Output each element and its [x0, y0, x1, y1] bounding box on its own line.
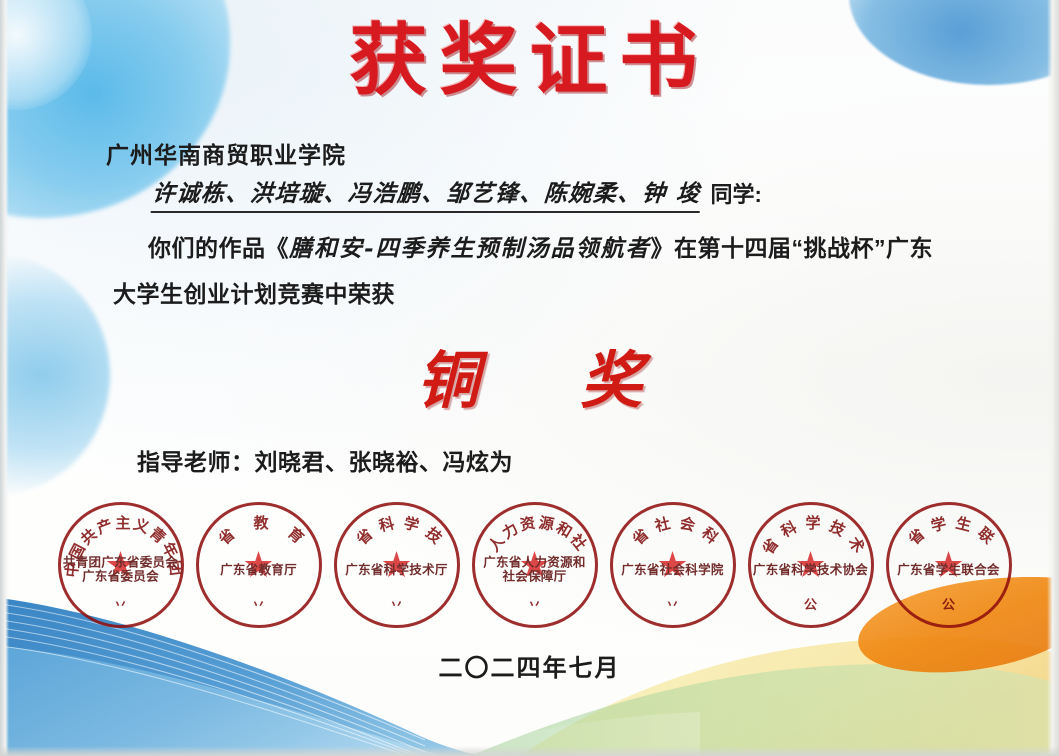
seal-bottom-mark: 丷	[114, 594, 127, 613]
seal-communist-youth-league: 中国共产主义青年团 ★ 共青团广东省委员会 广东省委员会 丷	[58, 502, 184, 628]
seal-bottom-mark: 公	[804, 594, 817, 613]
seal-name: 广东省人力资源和 社会保障厅	[460, 555, 610, 584]
certificate-page: 获奖证书 广州华南商贸职业学院 许诚栋、洪培璇、冯浩鹏、邹艺锋、陈婉柔、钟 埈 …	[0, 0, 1059, 756]
work-title: 膳和安-四季养生预制汤品领航者	[289, 235, 651, 262]
seal-guangdong-science-technology-department: 省 科 学 技 ★ 广东省科学技术厅 丷	[334, 502, 460, 628]
seal-bottom-mark: 丷	[666, 594, 679, 613]
body-paragraph-line2: 大学生创业计划竞赛中荣获	[113, 275, 395, 309]
seal-bottom-mark: 丷	[252, 594, 265, 613]
seal-guangdong-academy-social-sciences: 省 社 会 科 ★ 广东省社会科学院 丷	[610, 502, 736, 628]
student-names: 许诚栋、洪培璇、冯浩鹏、邹艺锋、陈婉柔、钟 埈	[151, 174, 702, 213]
seal-name-line1: 共青团广东省委员会	[63, 555, 178, 569]
seal-bottom-mark: 丷	[528, 594, 541, 613]
award-level: 铜 奖	[0, 330, 1059, 420]
seal-science-technology-association: 省 科 学 技 术 ★ 广东省科学技术协会 公	[748, 502, 874, 628]
advising-teachers: 指导老师：刘晓君、张晓裕、冯炫为	[137, 443, 513, 477]
school-name: 广州华南商贸职业学院	[106, 136, 346, 170]
body-line1-prefix: 你们的作品《	[148, 235, 289, 261]
body-paragraph-line1: 你们的作品《膳和安-四季养生预制汤品领航者》在第十四届“挑战杯”广东	[148, 229, 933, 263]
seal-name-line2: 广东省委员会	[82, 570, 159, 584]
seal-name: 广东省科学技术厅	[322, 563, 472, 577]
seal-name: 广东省学生联合会	[874, 563, 1024, 577]
issue-date: 二〇二四年七月	[0, 648, 1059, 683]
student-names-suffix: 同学:	[711, 177, 762, 213]
student-names-row: 许诚栋、洪培璇、冯浩鹏、邹艺锋、陈婉柔、钟 埈 同学:	[152, 174, 762, 213]
body-line1-suffix: 》在第十四届“挑战杯”广东	[651, 235, 934, 261]
seal-name: 共青团广东省委员会 广东省委员会	[46, 555, 196, 584]
seal-name-line1: 广东省人力资源和	[483, 555, 585, 569]
certificate-title: 获奖证书	[0, 22, 1059, 100]
seal-students-federation: 省 学 生 联 ★ 广东省学生联合会 公	[886, 502, 1012, 628]
seal-name: 广东省科学技术协会	[736, 563, 886, 577]
seal-name: 广东省教育厅	[184, 563, 334, 577]
seal-name: 广东省社会科学院	[598, 563, 748, 577]
seal-bottom-mark: 公	[942, 594, 955, 613]
certificate-content: 获奖证书 广州华南商贸职业学院 许诚栋、洪培璇、冯浩鹏、邹艺锋、陈婉柔、钟 埈 …	[0, 0, 1059, 756]
official-seals-row: 中国共产主义青年团 ★ 共青团广东省委员会 广东省委员会 丷 省 教 育 ★ 广…	[0, 502, 1059, 642]
seal-guangdong-education-department: 省 教 育 ★ 广东省教育厅 丷	[196, 502, 322, 628]
seal-bottom-mark: 丷	[390, 594, 403, 613]
seal-human-resources-social-security: 人力资源和社 ★ 广东省人力资源和 社会保障厅 丷	[472, 502, 598, 628]
seal-name-line2: 社会保障厅	[502, 570, 566, 584]
